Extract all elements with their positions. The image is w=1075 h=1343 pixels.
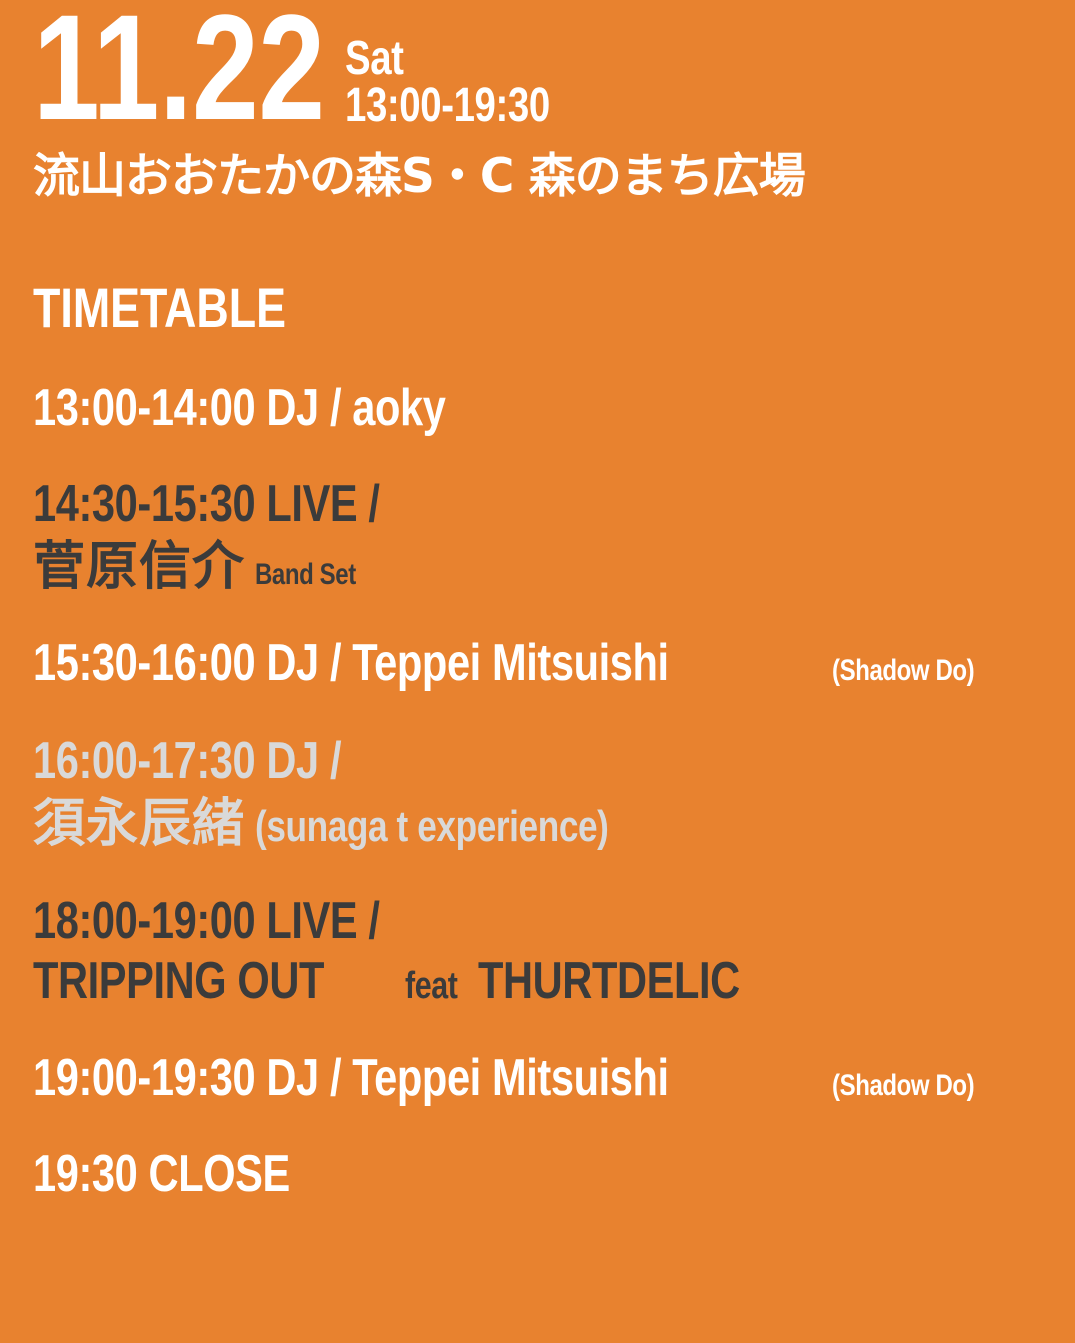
timetable-entry-line: 19:00-19:30 DJ / Teppei Mitsuishi (33, 1048, 669, 1108)
timetable-entry-artist-note: (Shadow Do) (832, 641, 974, 701)
timetable-entry-artist-note: Band Set (255, 545, 356, 605)
timetable-entry: 14:30-15:30 LIVE / 菅原信介Band Set (33, 474, 1043, 605)
date-row: 11.22 Sat 13:00-19:30 (33, 0, 1043, 150)
timetable-entry-artist-note: (sunaga t experience) (255, 797, 609, 857)
timetable-entry: 19:00-19:30 DJ / Teppei Mitsuishi(Shadow… (33, 1048, 1043, 1116)
timetable-entry-artist-note: (Shadow Do) (832, 1056, 974, 1116)
event-venue: 流山おおたかの森S・C 森のまち広場 (33, 148, 805, 206)
day-and-time-block: Sat 13:00-19:30 (345, 36, 601, 130)
timetable-entry-artist: TRIPPING OUT (33, 951, 324, 1011)
event-time-range: 13:00-19:30 (345, 81, 550, 130)
timetable-entry: 16:00-17:30 DJ / 須永辰緒(sunaga t experienc… (33, 731, 1043, 857)
timetable-entry: 15:30-16:00 DJ / Teppei Mitsuishi(Shadow… (33, 633, 1043, 701)
timetable-heading: TIMETABLE (33, 280, 286, 336)
timetable-entry-feat-label: feat (405, 956, 457, 1016)
timetable-entry-line: 16:00-17:30 DJ / (33, 731, 341, 791)
timetable-entry-line: 15:30-16:00 DJ / Teppei Mitsuishi (33, 633, 669, 693)
timetable-entry: 13:00-14:00 DJ / aoky (33, 378, 1043, 438)
timetable-entry: 18:00-19:00 LIVE / TRIPPING OUTfeatTHURT… (33, 891, 1043, 1016)
timetable-list: 13:00-14:00 DJ / aoky 14:30-15:30 LIVE /… (33, 378, 1043, 1228)
event-day-of-week: Sat (345, 36, 550, 81)
timetable-entry-line: 13:00-14:00 DJ / aoky (33, 378, 445, 438)
timetable-entry-artist-jp: 須永辰緒 (33, 791, 245, 857)
timetable-entry-line: 19:30 CLOSE (33, 1144, 290, 1204)
timetable-entry-feat-artist: THURTDELIC (478, 951, 740, 1011)
timetable-entry-line: 14:30-15:30 LIVE / (33, 474, 380, 534)
timetable-entry-line: 18:00-19:00 LIVE / (33, 891, 380, 951)
poster-header: 11.22 Sat 13:00-19:30 (33, 0, 1043, 150)
event-date: 11.22 (33, 0, 325, 142)
event-poster: 11.22 Sat 13:00-19:30 流山おおたかの森S・C 森のまち広場… (0, 0, 1075, 1343)
timetable-entry-artist-jp: 菅原信介 (33, 534, 245, 600)
timetable-entry: 19:30 CLOSE (33, 1144, 1043, 1204)
